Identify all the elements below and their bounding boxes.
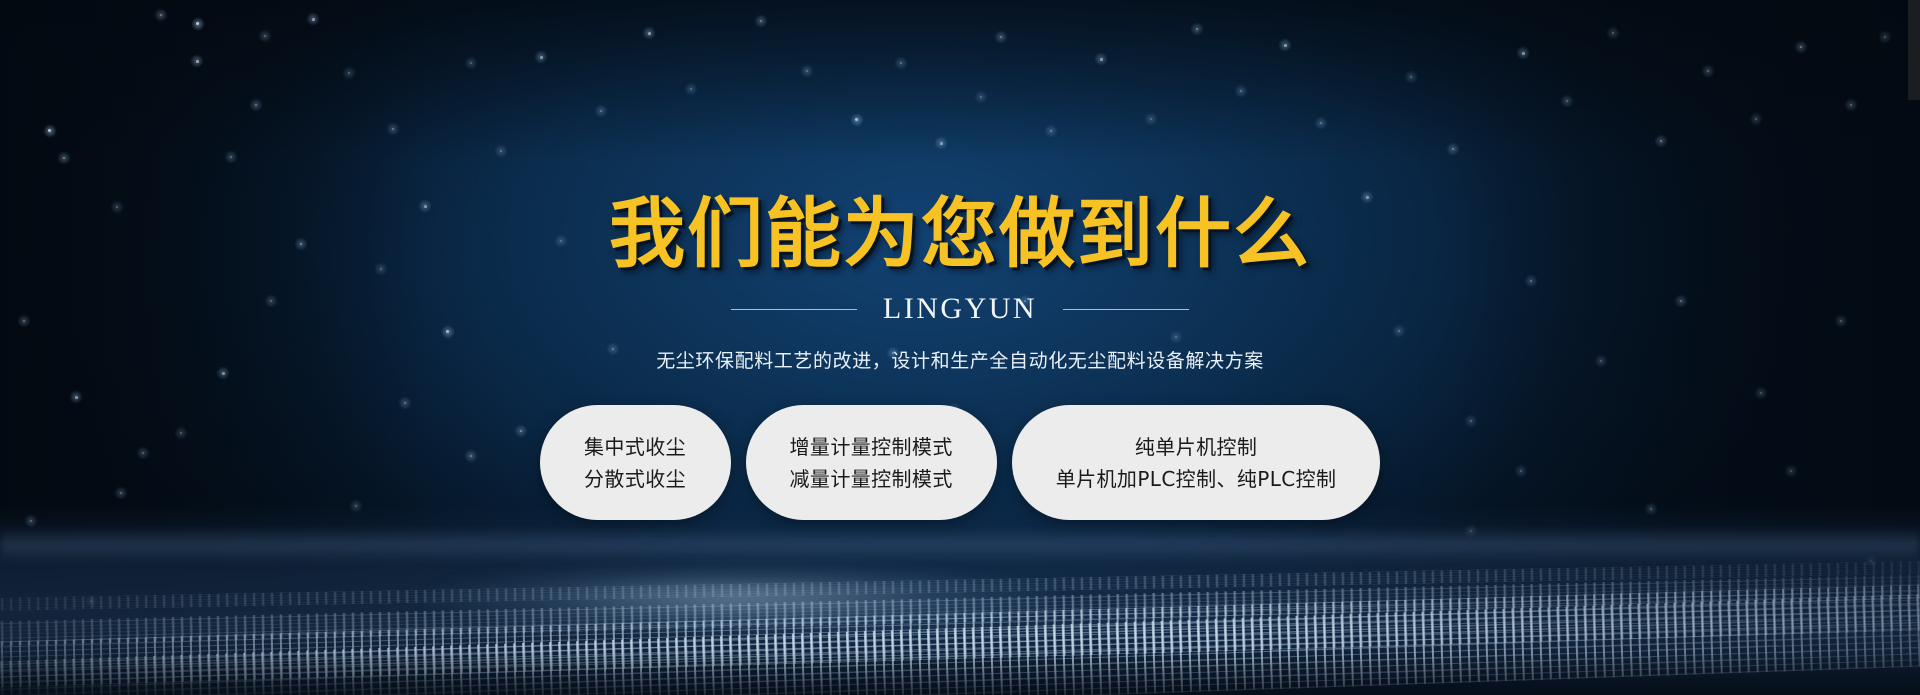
- feature-card-control-system[interactable]: 纯单片机控制 单片机加PLC控制、纯PLC控制: [1012, 405, 1381, 520]
- feature-card-metering-mode[interactable]: 增量计量控制模式 减量计量控制模式: [746, 405, 997, 520]
- banner-description: 无尘环保配料工艺的改进，设计和生产全自动化无尘配料设备解决方案: [656, 346, 1264, 373]
- feature-card-dust-collection[interactable]: 集中式收尘 分散式收尘: [540, 405, 731, 520]
- card-line-secondary: 分散式收尘: [584, 469, 686, 489]
- card-line-primary: 集中式收尘: [584, 437, 686, 457]
- page-title: 我们能为您做到什么: [609, 196, 1311, 272]
- card-line-secondary: 单片机加PLC控制、纯PLC控制: [1056, 469, 1337, 489]
- subtitle-row: LINGYUN: [731, 292, 1189, 326]
- divider-line-right: [1063, 309, 1189, 310]
- feature-card-list: 集中式收尘 分散式收尘 增量计量控制模式 减量计量控制模式 纯单片机控制 单片机…: [540, 405, 1381, 520]
- card-line-secondary: 减量计量控制模式: [790, 469, 953, 489]
- banner-content: 我们能为您做到什么 LINGYUN 无尘环保配料工艺的改进，设计和生产全自动化无…: [0, 0, 1920, 695]
- subtitle-english: LINGYUN: [883, 292, 1037, 326]
- card-line-primary: 纯单片机控制: [1135, 437, 1257, 457]
- hero-banner: 我们能为您做到什么 LINGYUN 无尘环保配料工艺的改进，设计和生产全自动化无…: [0, 0, 1920, 695]
- card-line-primary: 增量计量控制模式: [790, 437, 953, 457]
- divider-line-left: [731, 309, 857, 310]
